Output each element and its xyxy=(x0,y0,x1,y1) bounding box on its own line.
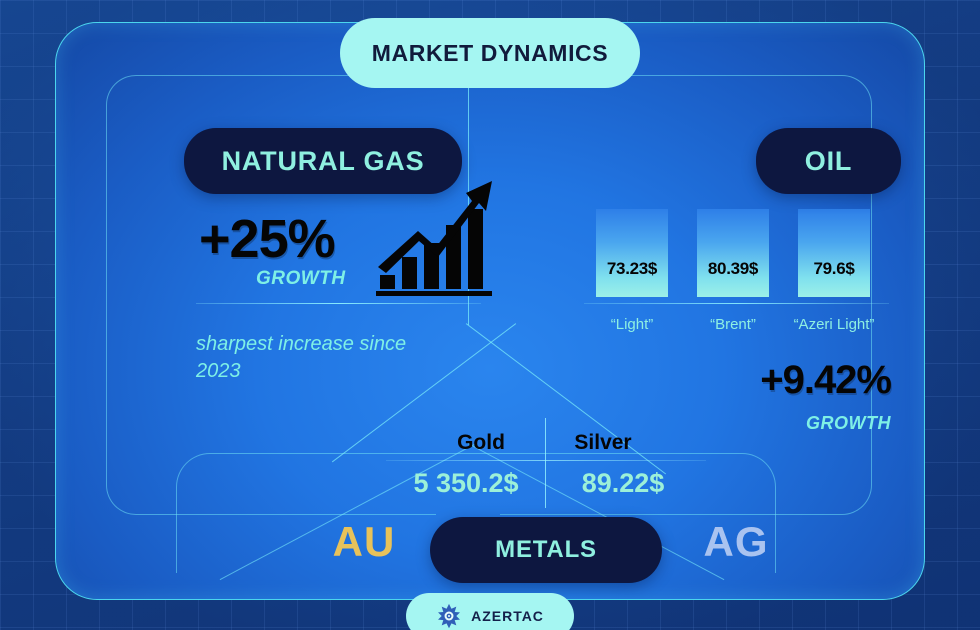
metal-value-silver: 89.22$ xyxy=(548,468,698,499)
oil-price-bar: 80.39$ xyxy=(697,209,769,297)
footer-brand-name: AZERTAC xyxy=(471,608,544,624)
oil-benchmark-label: “Brent” xyxy=(697,316,769,333)
oil-price-bar: 73.23$ xyxy=(596,209,668,297)
natural-gas-percent: +25% xyxy=(199,208,335,270)
metal-symbol-ag: AG xyxy=(686,518,786,566)
infographic-card: NATURAL GAS +25% GROWTH sharpest increas… xyxy=(55,22,925,600)
oil-price-value: 73.23$ xyxy=(607,259,657,279)
metal-symbol-au: AU xyxy=(314,518,414,566)
natural-gas-section-pill: NATURAL GAS xyxy=(184,128,462,194)
metals-section-pill: METALS xyxy=(430,517,662,583)
natural-gas-growth-label: GROWTH xyxy=(256,268,346,290)
metal-value-gold: 5 350.2$ xyxy=(386,468,546,499)
azertac-star-logo-icon xyxy=(436,603,462,629)
oil-price-value: 80.39$ xyxy=(708,259,758,279)
oil-growth-label: GROWTH xyxy=(696,413,891,434)
footer-brand-badge: AZERTAC xyxy=(406,593,574,630)
oil-price-value: 79.6$ xyxy=(813,259,854,279)
page-title: MARKET DYNAMICS xyxy=(372,40,608,67)
oil-divider xyxy=(584,303,889,304)
oil-price-bar: 79.6$ xyxy=(798,209,870,297)
oil-section-label: OIL xyxy=(805,146,852,177)
metal-name-silver: Silver xyxy=(548,431,658,455)
metals-section-label: METALS xyxy=(495,536,597,564)
oil-section-pill: OIL xyxy=(756,128,901,194)
oil-percent: +9.42% xyxy=(696,358,891,403)
oil-benchmark-label: “Azeri Light” xyxy=(766,316,902,333)
natural-gas-section-label: NATURAL GAS xyxy=(222,146,425,177)
page-title-badge: MARKET DYNAMICS xyxy=(340,18,640,88)
oil-benchmark-label: “Light” xyxy=(596,316,668,333)
natural-gas-divider xyxy=(196,303,481,304)
metal-name-gold: Gold xyxy=(426,431,536,455)
natural-gas-note: sharpest increase since 2023 xyxy=(196,331,456,385)
